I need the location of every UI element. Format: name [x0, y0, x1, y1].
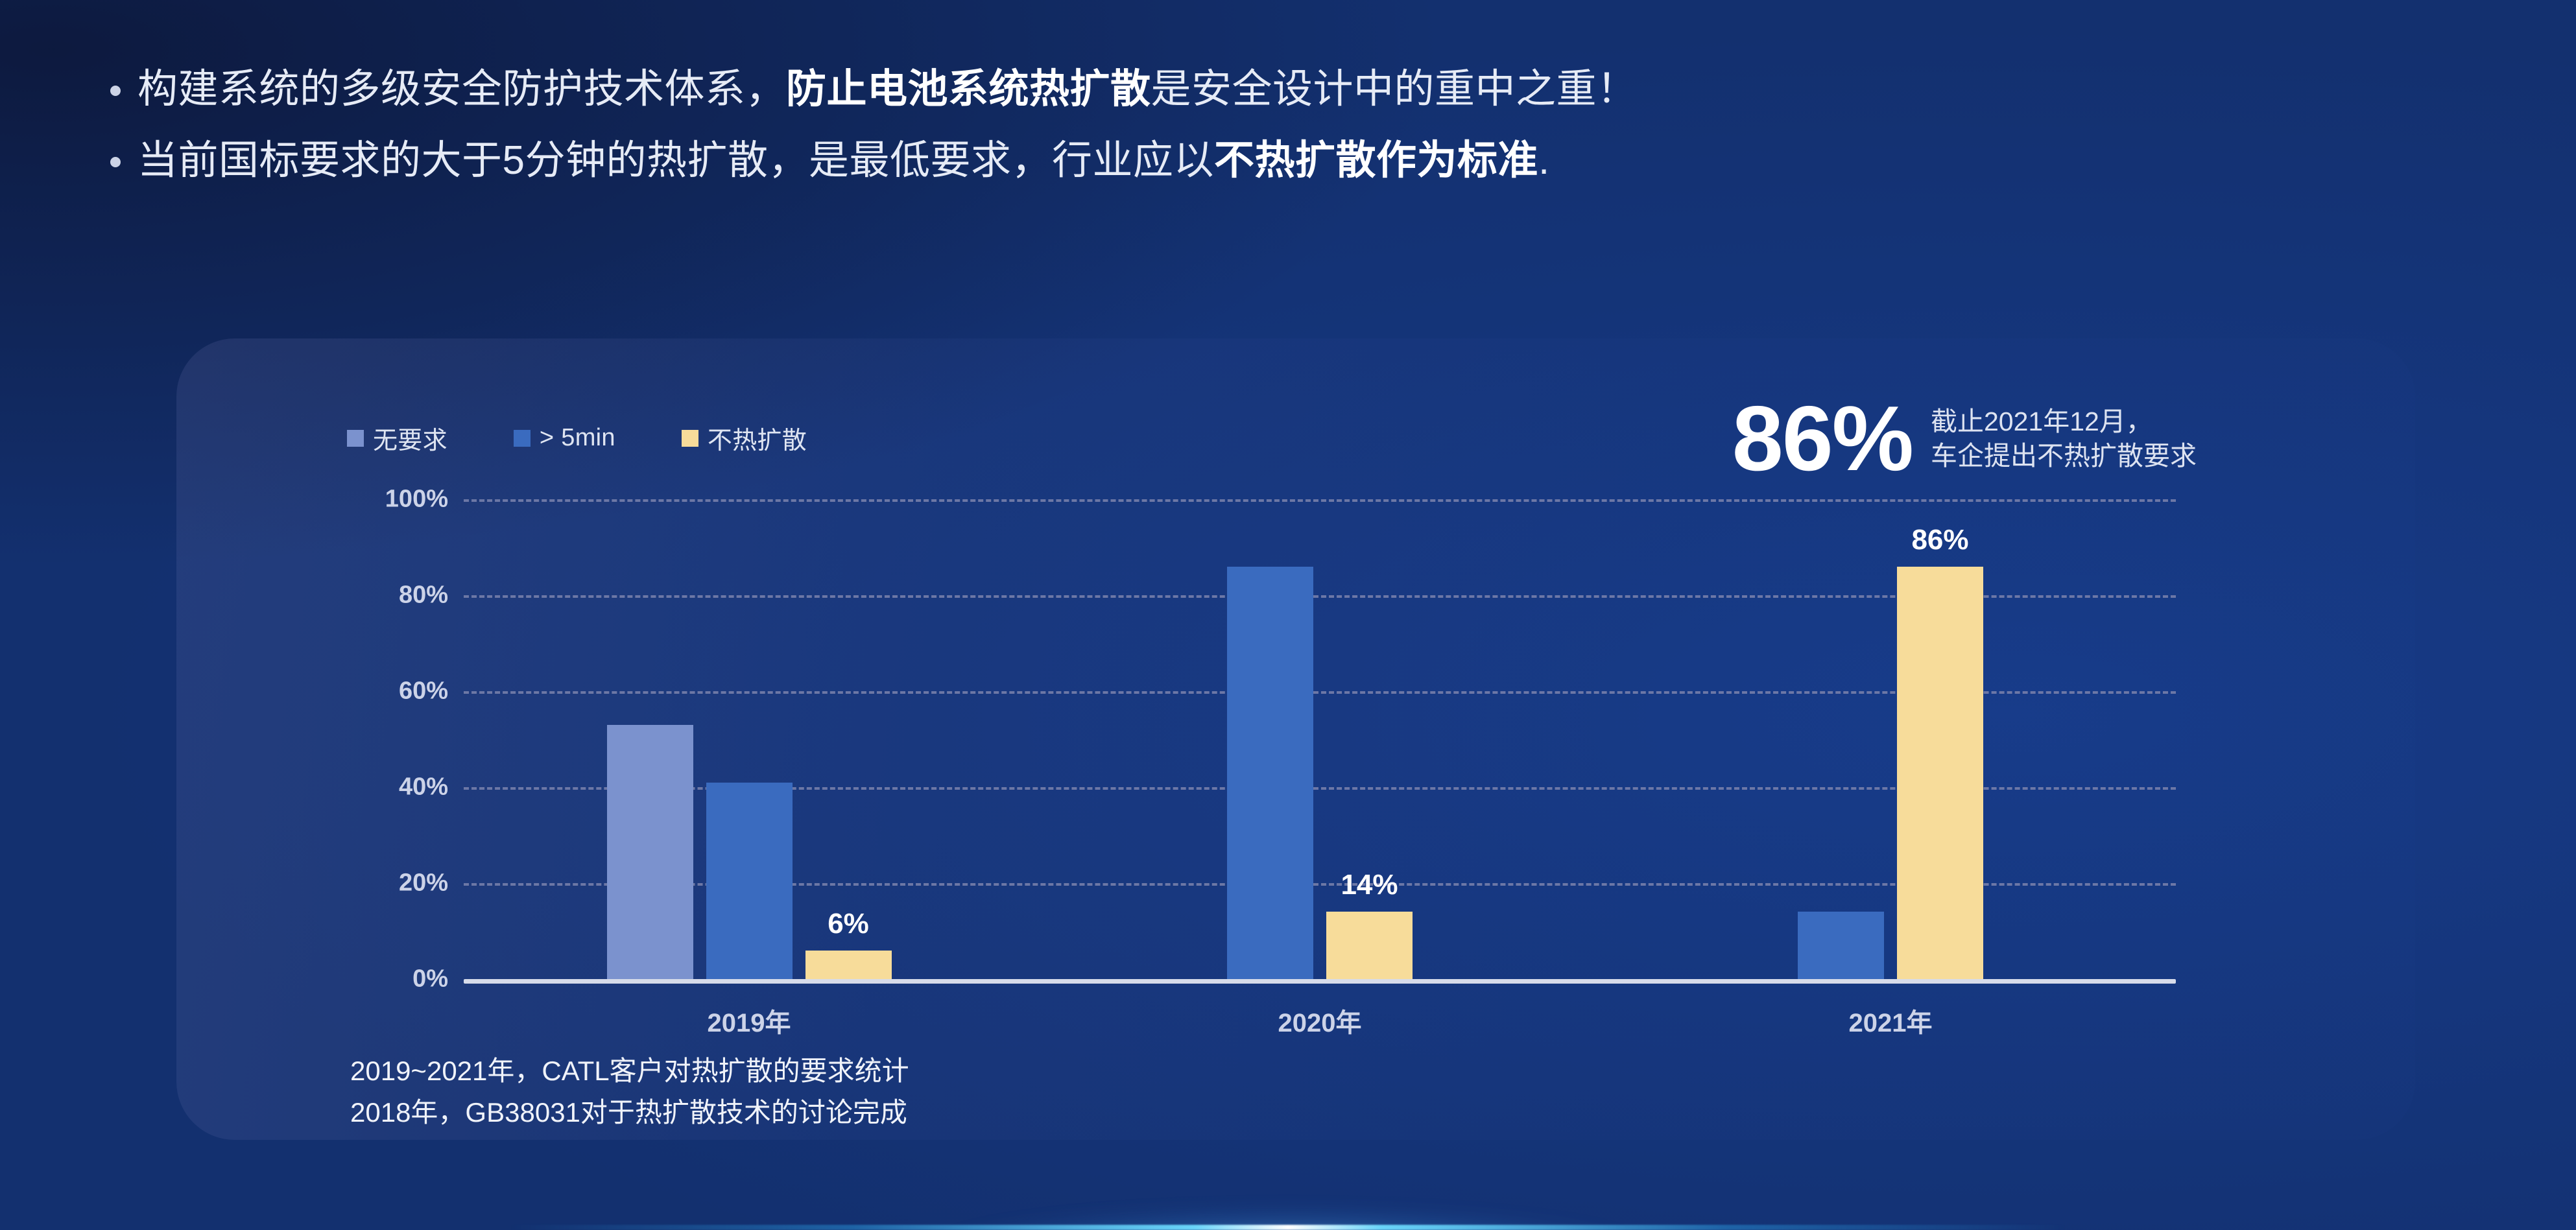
legend-item-0[interactable]: 无要求 [347, 420, 447, 456]
y-axis-tick-100pct: 100% [254, 486, 448, 514]
x-axis-label-2020年: 2020年 [1278, 1002, 1362, 1039]
legend-label: 不热扩散 [708, 420, 807, 456]
y-axis-tick-80pct: 80% [254, 582, 448, 609]
legend-label: 无要求 [373, 420, 447, 456]
bar-2019年-不热扩散[interactable] [805, 951, 892, 979]
bar-value-label-2020年: 14% [1341, 869, 1398, 901]
legend-item-2[interactable]: 不热扩散 [682, 420, 807, 456]
grouped-bar-chart: 0%20%40%60%80%100% 6%2019年14%2020年86%202… [464, 499, 2176, 979]
bar-group-2020年: 14%2020年 [1034, 499, 1605, 979]
y-axis-tick-0pct: 0% [254, 965, 448, 993]
bullet-segment-1: 不热扩散作为标准 [1214, 138, 1538, 183]
legend-swatch-icon [682, 430, 698, 447]
bullet-segment-0: 构建系统的多级安全防护技术体系， [137, 67, 786, 112]
bottom-glow-halo [802, 1191, 1774, 1230]
bullet-item: 当前国标要求的大于5分钟的热扩散，是最低要求，行业应以不热扩散作为标准. [110, 136, 2445, 185]
bullet-segment-2: 是安全设计中的重中之重！ [1151, 67, 1638, 112]
y-axis-tick-20pct: 20% [254, 869, 448, 897]
bullet-text-1: 构建系统的多级安全防护技术体系，防止电池系统热扩散是安全设计中的重中之重！ [137, 65, 1638, 114]
y-axis-tick-40pct: 40% [254, 774, 448, 801]
callout-caption-line-2: 车企提出不热扩散要求 [1931, 439, 2197, 473]
footnote-2: 2018年，GB38031对于热扩散技术的讨论完成 [350, 1092, 909, 1133]
bullet-list: 构建系统的多级安全防护技术体系，防止电池系统热扩散是安全设计中的重中之重！ 当前… [110, 65, 2445, 207]
callout-percentage: 86% [1732, 397, 1913, 482]
bullet-segment-0: 当前国标要求的大于5分钟的热扩散，是最低要求，行业应以 [137, 138, 1214, 183]
callout-caption-line-1: 截止2021年12月， [1931, 405, 2197, 439]
legend-swatch-icon [514, 430, 531, 447]
bar-value-label-2019年: 6% [828, 908, 869, 940]
x-axis-label-2019年: 2019年 [708, 1002, 791, 1039]
bar-2019年-无要求[interactable] [607, 725, 693, 979]
bar-value-label-2021年: 86% [1911, 524, 1968, 556]
chart-legend: 无要求> 5min不热扩散 [347, 420, 873, 456]
y-axis-tick-60pct: 60% [254, 678, 448, 705]
bullet-dot-icon [110, 157, 121, 167]
callout-caption: 截止2021年12月， 车企提出不热扩散要求 [1931, 405, 2197, 482]
bullet-item: 构建系统的多级安全防护技术体系，防止电池系统热扩散是安全设计中的重中之重！ [110, 65, 2445, 114]
chart-footnotes: 2019~2021年，CATL客户对热扩散的要求统计 2018年，GB38031… [350, 1050, 909, 1133]
bar-2019年-> 5min[interactable] [706, 783, 793, 979]
bar-group-2019年: 6%2019年 [464, 499, 1034, 979]
x-axis-label-2021年: 2021年 [1849, 1002, 1933, 1039]
bullet-dot-icon [110, 86, 121, 96]
legend-item-1[interactable]: > 5min [514, 424, 615, 452]
bar-2021年-不热扩散[interactable] [1897, 567, 1983, 979]
footnote-1: 2019~2021年，CATL客户对热扩散的要求统计 [350, 1050, 909, 1092]
slide-canvas: 构建系统的多级安全防护技术体系，防止电池系统热扩散是安全设计中的重中之重！ 当前… [0, 0, 2576, 1230]
chart-x-axis-line [464, 979, 2176, 984]
legend-swatch-icon [347, 430, 364, 447]
bullet-segment-1: 防止电池系统热扩散 [786, 67, 1151, 112]
bar-2021年-> 5min[interactable] [1798, 912, 1884, 979]
bar-2020年-> 5min[interactable] [1227, 567, 1313, 979]
bottom-accent-line [510, 1225, 2066, 1230]
legend-label: > 5min [540, 424, 615, 452]
bullet-text-2: 当前国标要求的大于5分钟的热扩散，是最低要求，行业应以不热扩散作为标准. [137, 136, 1550, 185]
bar-2020年-不热扩散[interactable] [1326, 912, 1413, 979]
highlight-callout: 86% 截止2021年12月， 车企提出不热扩散要求 [1732, 397, 2197, 482]
bar-group-2021年: 86%2021年 [1605, 499, 2176, 979]
bullet-segment-2: . [1538, 138, 1550, 183]
